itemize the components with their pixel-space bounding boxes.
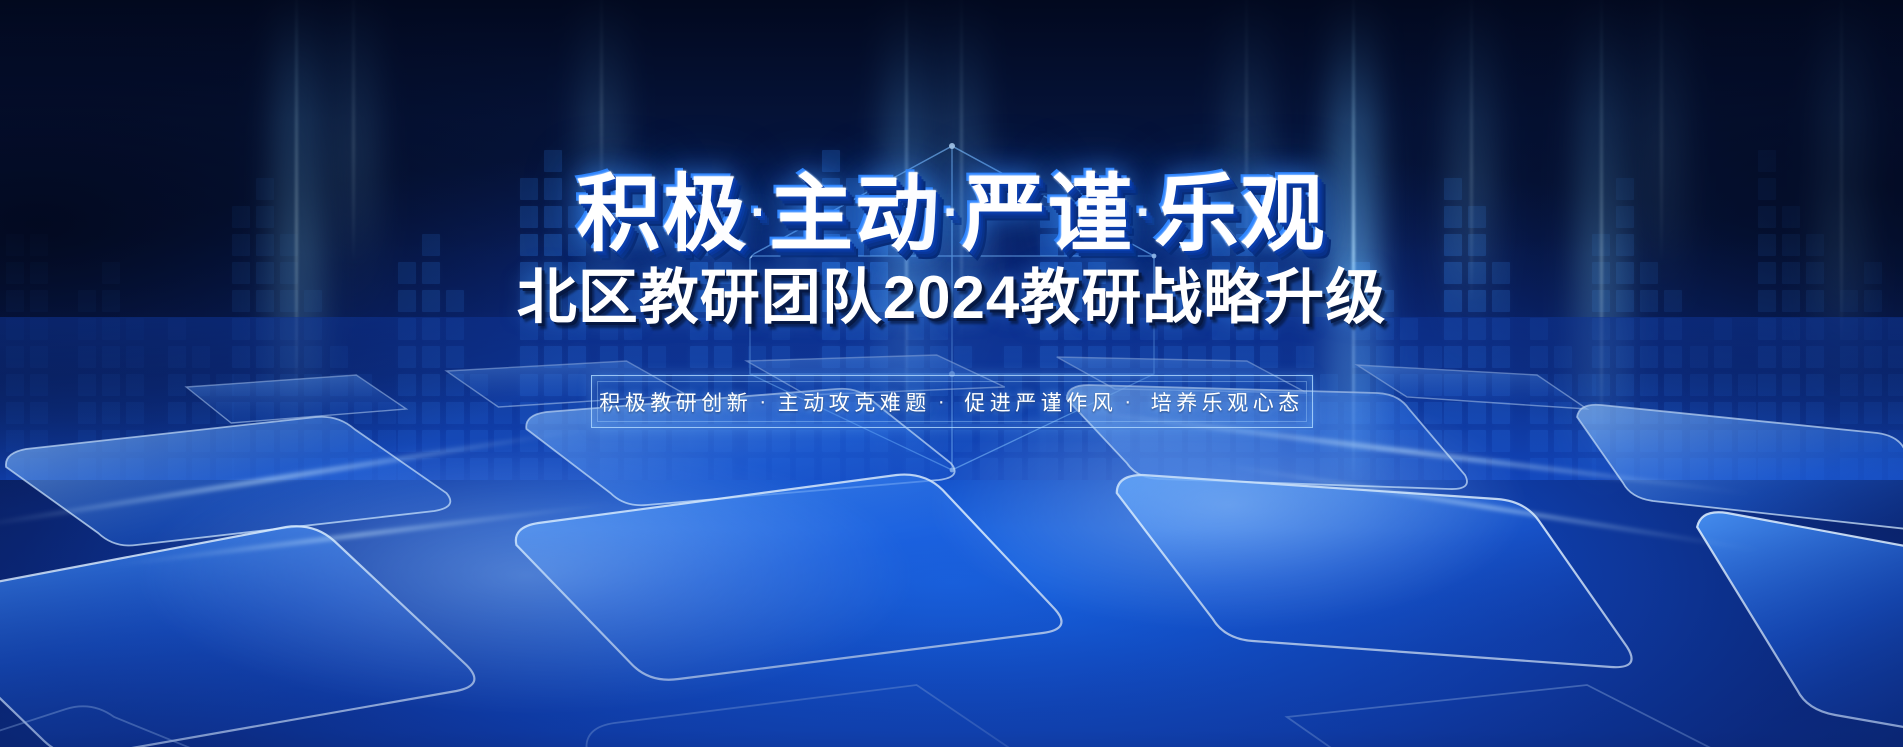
subheadline-title: 北区教研团队2024教研战略升级 [0,268,1903,328]
tagline-separator: · [1124,390,1136,414]
headline-word-2: 主动 [769,167,941,261]
headline-word-4: 乐观 [1155,167,1327,261]
headline-separator: · [1136,184,1153,240]
tagline-separator: · [759,390,771,414]
tagline-item-2: 主动攻克难题 [778,387,931,417]
tagline-frame: 积极教研创新·主动攻克难题·促进严谨作风·培养乐观心态 [591,375,1313,428]
banner-content: 积极·主动·严谨·乐观 北区教研团队2024教研战略升级 积极教研创新·主动攻克… [0,0,1903,747]
headline-separator: · [943,184,960,240]
headline-title: 积极·主动·严谨·乐观 [0,172,1903,256]
tagline-separator: · [938,390,950,414]
tagline-item-4: 培养乐观心态 [1151,387,1304,417]
tagline-text: 积极教研创新·主动攻克难题·促进严谨作风·培养乐观心态 [592,376,1312,427]
headline-word-1: 积极 [576,167,748,261]
headline-separator: · [751,184,768,240]
tagline-item-3: 促进严谨作风 [964,387,1117,417]
hero-banner: 积极·主动·严谨·乐观 北区教研团队2024教研战略升级 积极教研创新·主动攻克… [0,0,1903,747]
tagline-item-1: 积极教研创新 [599,387,752,417]
headline-word-3: 严谨 [962,167,1134,261]
